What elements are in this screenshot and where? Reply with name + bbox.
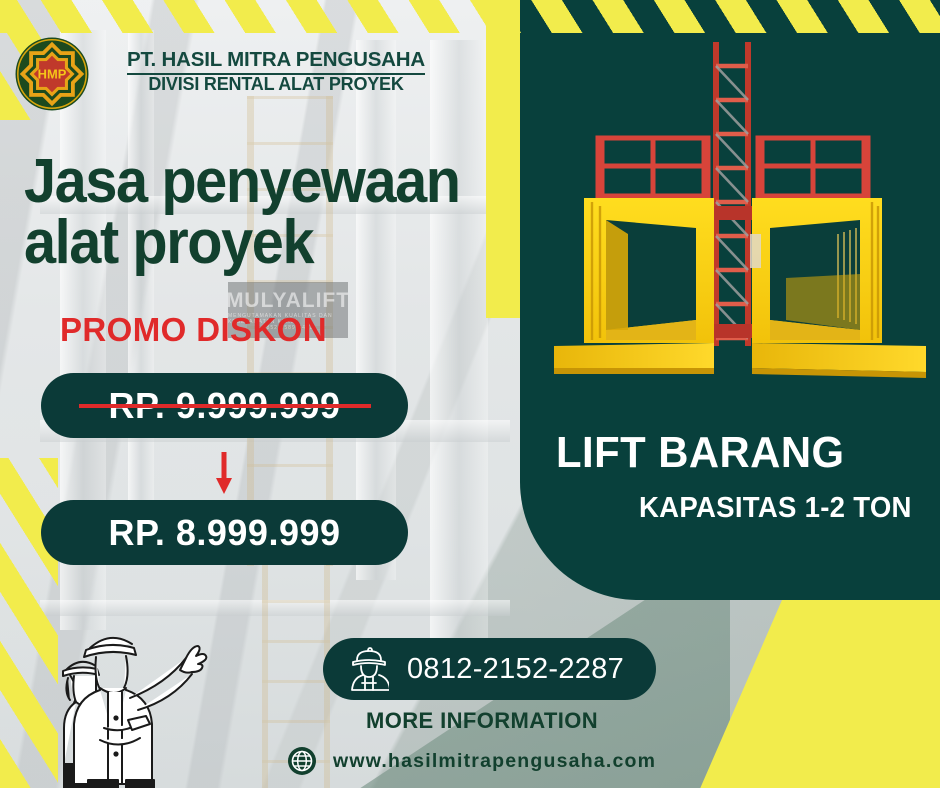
background-column: [430, 40, 488, 640]
company-name: PT. HASIL MITRA PENGUSAHA: [127, 48, 425, 75]
old-price-pill: RP. 9.999.999: [41, 373, 408, 438]
globe-icon: [287, 746, 317, 776]
background-column: [356, 40, 396, 580]
strikethrough-line: [79, 404, 371, 408]
website-row[interactable]: www.hasilmitrapengusaha.com: [287, 746, 656, 776]
worker-hardhat-icon: [349, 647, 389, 691]
new-price-value: RP. 8.999.999: [108, 512, 340, 554]
page-title: Jasa penyewaan alat proyek: [24, 152, 470, 274]
promo-badge: PROMO DISKON: [60, 311, 327, 349]
new-price-pill: RP. 8.999.999: [41, 500, 408, 565]
product-subtitle: KAPASITAS 1-2 TON: [639, 492, 912, 525]
company-division: DIVISI RENTAL ALAT PROYEK: [96, 74, 456, 95]
phone-number: 0812-2152-2287: [407, 653, 624, 686]
phone-contact-pill[interactable]: 0812-2152-2287: [323, 638, 656, 700]
headline-line-1: Jasa penyewaan: [24, 147, 460, 216]
background-column: [128, 30, 154, 550]
product-title: LIFT BARANG: [556, 428, 845, 478]
promotional-poster: MULYALIFT MENGUTAMAKAN KUALITAS DAN KESE…: [0, 0, 940, 788]
yellow-vertical-strip: [486, 0, 520, 318]
hazard-stripes-top: [0, 0, 940, 33]
website-url: www.hasilmitrapengusaha.com: [333, 750, 656, 773]
hmp-star-logo: HMP: [14, 36, 90, 112]
construction-hoist-image: [546, 38, 938, 396]
headline-line-2: alat proyek: [24, 213, 470, 274]
logo-text: HMP: [38, 67, 67, 82]
more-information-label: MORE INFORMATION: [366, 708, 598, 734]
construction-workers-illustration: [30, 612, 245, 788]
signboard-title: MULYALIFT: [228, 289, 348, 313]
arrow-down-icon: [216, 452, 232, 494]
company-header: PT. HASIL MITRA PENGUSAHA DIVISI RENTAL …: [96, 48, 456, 95]
